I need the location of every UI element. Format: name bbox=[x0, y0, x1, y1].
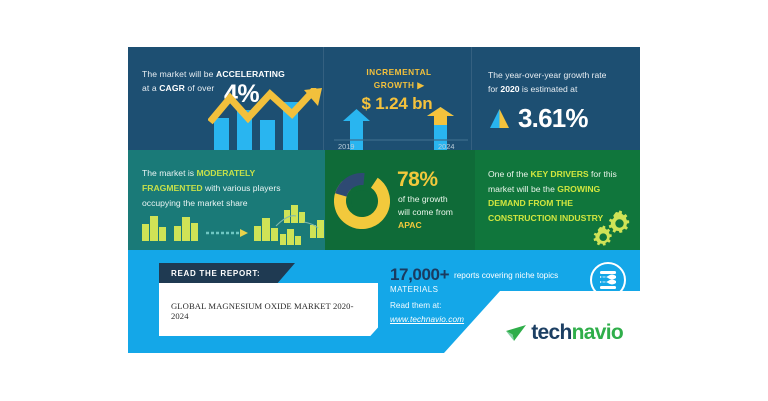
reports-topics-label: reports covering niche topics bbox=[454, 271, 558, 280]
read-them-at-label: Read them at: bbox=[390, 301, 441, 310]
infographic-page: The market will be ACCELERATING at a CAG… bbox=[0, 0, 768, 401]
yoy-value-row: 3.61% bbox=[488, 103, 588, 134]
technavio-logo[interactable]: technavio bbox=[504, 321, 623, 345]
panel-fragmentation: The market is MODERATELY FRAGMENTED with… bbox=[128, 150, 325, 250]
read-the-report-ribbon: READ THE REPORT: bbox=[159, 263, 295, 285]
technavio-url-link[interactable]: www.technavio.com bbox=[390, 315, 464, 324]
yoy-description: The year-over-year growth rate for 2020 … bbox=[488, 68, 634, 96]
arrow-right-icon: ▶ bbox=[417, 80, 424, 90]
cagr-text-bold-2: CAGR bbox=[159, 83, 185, 93]
incremental-growth-chart: 2019 2024 bbox=[330, 107, 472, 150]
row-market-insights: The market is MODERATELY FRAGMENTED with… bbox=[128, 150, 640, 250]
report-title: GLOBAL MAGNESIUM OXIDE MARKET 2020-2024 bbox=[171, 301, 371, 321]
apac-text-1: of the growth bbox=[398, 194, 448, 204]
logo-text-navio: navio bbox=[572, 321, 623, 344]
footer-bar: READ THE REPORT: GLOBAL MAGNESIUM OXIDE … bbox=[128, 250, 640, 353]
apac-text-2: will come from bbox=[398, 207, 453, 217]
reports-stack-icon bbox=[589, 261, 627, 299]
drivers-text-bold-1: KEY DRIVERS bbox=[531, 169, 589, 179]
infographic-body: The market will be ACCELERATING at a CAG… bbox=[128, 47, 640, 353]
yoy-text-3: is estimated at bbox=[520, 84, 578, 94]
yoy-value: 3.61% bbox=[518, 103, 588, 134]
technavio-arrow-icon bbox=[504, 322, 529, 344]
fragmentation-text-1: The market is bbox=[142, 168, 196, 178]
drivers-text-1: One of the bbox=[488, 169, 531, 179]
row-key-metrics: The market will be ACCELERATING at a CAG… bbox=[128, 47, 640, 150]
triangle-up-icon bbox=[488, 107, 511, 130]
gears-icon bbox=[586, 210, 632, 246]
technavio-logo-text: technavio bbox=[531, 321, 623, 345]
cagr-text-bold-1: ACCELERATING bbox=[216, 69, 285, 79]
panel-key-drivers: One of the KEY DRIVERS for this market w… bbox=[475, 150, 640, 250]
panel-incremental-growth: INCREMENTAL GROWTH ▶ $ 1.24 bn 2019 2024 bbox=[324, 47, 472, 150]
buildings-icon bbox=[136, 202, 325, 248]
donut-chart-icon bbox=[334, 173, 390, 229]
yoy-text-bold: 2020 bbox=[500, 84, 519, 94]
report-title-card[interactable]: GLOBAL MAGNESIUM OXIDE MARKET 2020-2024 bbox=[159, 283, 378, 336]
bar-chart-growth-icon bbox=[208, 88, 324, 150]
incremental-title-line2: GROWTH bbox=[374, 80, 415, 90]
panel-cagr: The market will be ACCELERATING at a CAG… bbox=[128, 47, 324, 150]
panel-yoy-growth: The year-over-year growth rate for 2020 … bbox=[472, 47, 640, 150]
materials-label: MATERIALS bbox=[390, 285, 438, 294]
cagr-text-2: at a bbox=[142, 83, 159, 93]
yoy-text-2: for bbox=[488, 84, 500, 94]
logo-text-tech: tech bbox=[531, 321, 571, 344]
incremental-year-start: 2019 bbox=[338, 142, 354, 150]
reports-count: 17,000+ bbox=[390, 265, 449, 285]
apac-description: of the growth will come from APAC bbox=[398, 193, 474, 232]
cagr-text-1: The market will be bbox=[142, 69, 216, 79]
incremental-growth-title: INCREMENTAL GROWTH ▶ bbox=[338, 66, 460, 92]
incremental-title-line1: INCREMENTAL bbox=[366, 67, 431, 77]
read-the-report-label: READ THE REPORT: bbox=[171, 269, 260, 278]
incremental-year-end: 2024 bbox=[438, 142, 454, 150]
apac-text-bold: APAC bbox=[398, 220, 422, 230]
panel-apac-growth: 78% of the growth will come from APAC bbox=[325, 150, 475, 250]
yoy-text-1: The year-over-year growth rate bbox=[488, 70, 606, 80]
apac-value: 78% bbox=[397, 168, 438, 192]
